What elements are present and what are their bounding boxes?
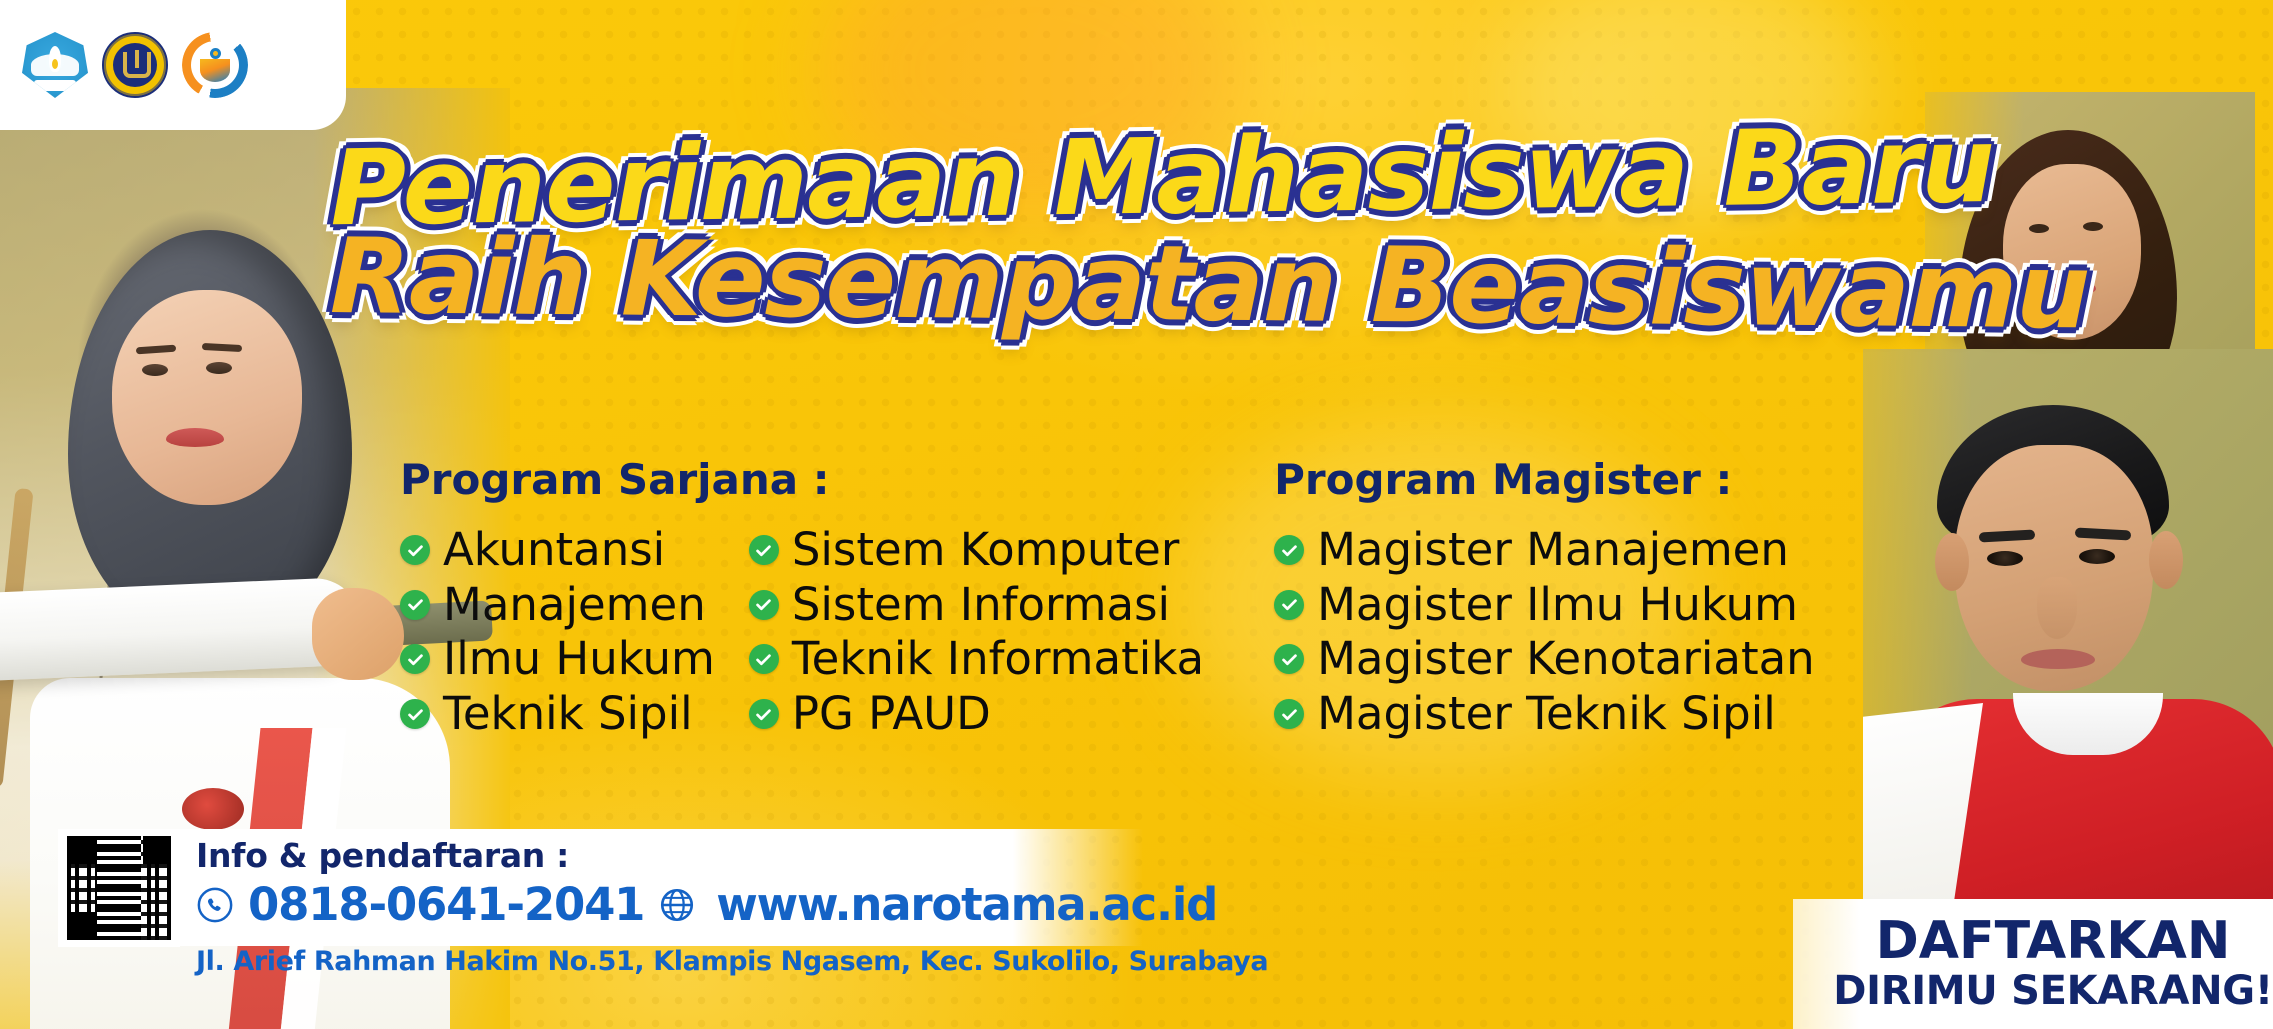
- program-item-label: Magister Kenotariatan: [1317, 635, 1815, 684]
- check-circle-icon: [749, 644, 779, 674]
- program-item-label: Sistem Komputer: [792, 526, 1180, 575]
- program-item-label: Teknik Sipil: [443, 690, 693, 739]
- program-group-sarjana: Program Sarjana : Akuntansi Manajemen Il…: [400, 455, 1204, 738]
- check-circle-icon: [1274, 644, 1304, 674]
- program-item-label: Ilmu Hukum: [443, 635, 715, 684]
- campus-address: Jl. Arief Rahman Hakim No.51, Klampis Ng…: [196, 946, 1268, 977]
- check-circle-icon: [749, 535, 779, 565]
- diktisaintek-berdampak-logo: [182, 32, 248, 98]
- figure-body: [200, 59, 230, 82]
- eye: [142, 364, 168, 376]
- cta-line-2: DIRIMU SEKARANG!: [1833, 969, 2273, 1013]
- contact-row: 0818-0641-2041 www.narotama.ac.id: [196, 878, 1217, 931]
- check-circle-icon: [400, 644, 430, 674]
- program-item[interactable]: Magister Teknik Sipil: [1274, 690, 1815, 739]
- check-circle-icon: [400, 590, 430, 620]
- figure-head: [210, 48, 221, 59]
- program-item[interactable]: Magister Manajemen: [1274, 526, 1815, 575]
- program-item[interactable]: Magister Kenotariatan: [1274, 635, 1815, 684]
- book-shape: [34, 80, 76, 91]
- headline-line-2: Raih Kesempatan Beasiswamu: [330, 227, 1941, 341]
- program-item[interactable]: Teknik Informatika: [749, 635, 1204, 684]
- program-magister-heading: Program Magister :: [1274, 455, 1815, 504]
- figure-icon: [200, 48, 230, 82]
- program-group-magister: Program Magister : Magister Manajemen Ma…: [1274, 455, 1815, 738]
- ear: [1935, 533, 1969, 591]
- program-item[interactable]: Ilmu Hukum: [400, 635, 715, 684]
- program-item-label: Magister Manajemen: [1317, 526, 1789, 575]
- program-sarjana-column-1: Akuntansi Manajemen Ilmu Hukum Teknik Si…: [400, 526, 715, 738]
- program-item[interactable]: Teknik Sipil: [400, 690, 715, 739]
- tut-wuri-handayani-logo: [22, 32, 88, 98]
- program-item-label: Magister Ilmu Hukum: [1317, 581, 1798, 630]
- qr-code-box[interactable]: [58, 829, 180, 947]
- program-item[interactable]: Manajemen: [400, 581, 715, 630]
- eye: [206, 362, 232, 374]
- institution-logo-panel: [0, 0, 346, 130]
- extended-arm: [0, 577, 362, 684]
- qr-code[interactable]: [67, 836, 171, 940]
- eye: [1987, 551, 2023, 566]
- program-item[interactable]: Magister Ilmu Hukum: [1274, 581, 1815, 630]
- un-monogram: [123, 52, 151, 78]
- cta-line-1: DAFTARKAN: [1876, 915, 2231, 967]
- program-item-label: Teknik Informatika: [792, 635, 1204, 684]
- program-sarjana-heading: Program Sarjana :: [400, 455, 1204, 504]
- check-circle-icon: [749, 699, 779, 729]
- program-item-label: Manajemen: [443, 581, 706, 630]
- admissions-banner: Penerimaan Mahasiswa Baru Raih Kesempata…: [0, 0, 2273, 1029]
- contact-phone[interactable]: 0818-0641-2041: [248, 878, 644, 931]
- eye: [2079, 549, 2115, 564]
- whatsapp-phone-icon: [196, 886, 234, 924]
- nose: [2037, 577, 2077, 639]
- program-item[interactable]: Sistem Informasi: [749, 581, 1204, 630]
- contact-label: Info & pendaftaran :: [196, 836, 1217, 875]
- program-magister-column-1: Magister Manajemen Magister Ilmu Hukum M…: [1274, 526, 1815, 738]
- program-item[interactable]: Akuntansi: [400, 526, 715, 575]
- program-item-label: Akuntansi: [443, 526, 665, 575]
- program-item[interactable]: PG PAUD: [749, 690, 1204, 739]
- ear: [2149, 531, 2183, 589]
- program-item-label: Sistem Informasi: [792, 581, 1170, 630]
- flame-shape: [49, 46, 61, 72]
- program-item-label: PG PAUD: [792, 690, 991, 739]
- contact-website[interactable]: www.narotama.ac.id: [716, 878, 1217, 931]
- jersey-emblem: [182, 788, 244, 830]
- contact-info-text: Info & pendaftaran : 0818-0641-2041 www.…: [196, 836, 1217, 931]
- program-lists: Program Sarjana : Akuntansi Manajemen Il…: [400, 455, 1870, 738]
- banner-headline: Penerimaan Mahasiswa Baru Raih Kesempata…: [330, 128, 1940, 334]
- check-circle-icon: [1274, 699, 1304, 729]
- program-item[interactable]: Sistem Komputer: [749, 526, 1204, 575]
- lips: [2021, 649, 2095, 669]
- check-circle-icon: [749, 590, 779, 620]
- program-item-label: Magister Teknik Sipil: [1317, 690, 1776, 739]
- hand: [312, 588, 404, 680]
- check-circle-icon: [1274, 535, 1304, 565]
- check-circle-icon: [1274, 590, 1304, 620]
- check-circle-icon: [400, 699, 430, 729]
- lips: [166, 428, 224, 447]
- globe-icon: [658, 886, 696, 924]
- program-sarjana-column-2: Sistem Komputer Sistem Informasi Teknik …: [749, 526, 1204, 738]
- universitas-narotama-logo: [102, 32, 168, 98]
- cta-panel[interactable]: DAFTARKAN DIRIMU SEKARANG!: [1793, 899, 2273, 1029]
- check-circle-icon: [400, 535, 430, 565]
